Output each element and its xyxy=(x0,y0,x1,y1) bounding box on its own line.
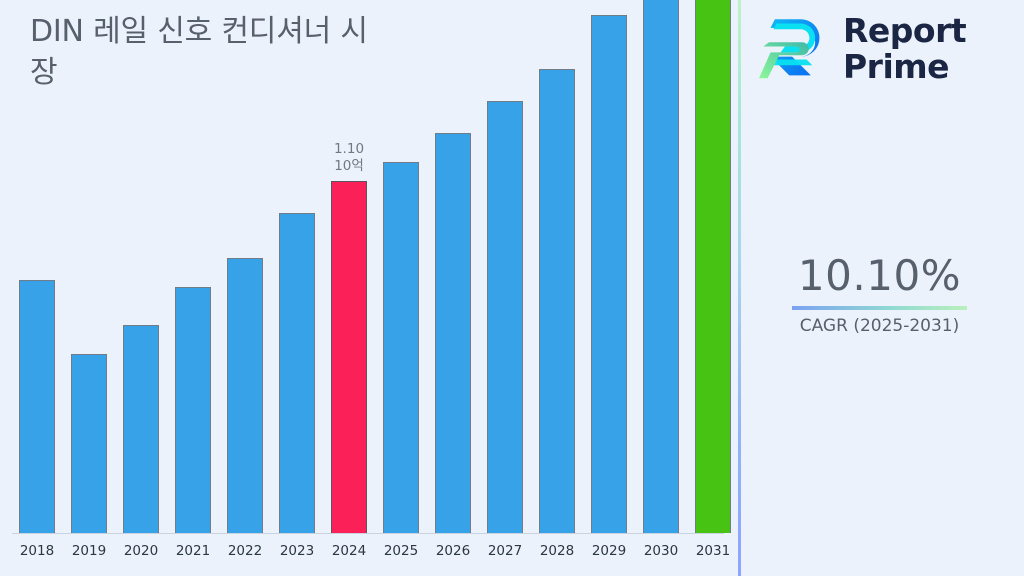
bar-2028[interactable] xyxy=(539,69,575,533)
bar-2021[interactable] xyxy=(175,287,211,533)
cagr-caption: CAGR (2025-2031) xyxy=(738,314,1021,338)
cagr-divider-rule xyxy=(792,306,967,310)
chart-panel: DIN 레일 신호 컨디셔너 시 장 201820192020202120222… xyxy=(0,0,738,576)
bar-2023[interactable] xyxy=(279,213,315,533)
x-tick-2020: 2020 xyxy=(111,543,171,559)
info-panel: Report Prime 10.10% CAGR (2025-2031) xyxy=(738,0,1021,576)
bar-2031[interactable] xyxy=(695,0,731,533)
bar-2024[interactable] xyxy=(331,181,367,533)
x-tick-2021: 2021 xyxy=(163,543,223,559)
bar-2019[interactable] xyxy=(71,354,107,533)
x-tick-2031: 2031 xyxy=(683,543,743,559)
bar-2018[interactable] xyxy=(19,280,55,533)
x-tick-2026: 2026 xyxy=(423,543,483,559)
x-tick-2025: 2025 xyxy=(371,543,431,559)
x-tick-2029: 2029 xyxy=(579,543,639,559)
bar-2020[interactable] xyxy=(123,325,159,533)
bar-2026[interactable] xyxy=(435,133,471,533)
logo-wordmark: Report Prime xyxy=(843,14,966,83)
bar-2030[interactable] xyxy=(643,0,679,533)
logo-wordmark-line2: Prime xyxy=(843,50,966,83)
x-tick-2030: 2030 xyxy=(631,543,691,559)
slide-root: DIN 레일 신호 컨디셔너 시 장 201820192020202120222… xyxy=(0,0,1024,576)
x-tick-2018: 2018 xyxy=(7,543,67,559)
bar-2029[interactable] xyxy=(591,15,627,533)
x-tick-2028: 2028 xyxy=(527,543,587,559)
x-tick-2019: 2019 xyxy=(59,543,119,559)
x-tick-2023: 2023 xyxy=(267,543,327,559)
cagr-value: 10.10% xyxy=(738,252,1021,300)
bar-chart-plot-area: 2018201920202021202220231.10 10억20242025… xyxy=(0,0,738,576)
bar-2027[interactable] xyxy=(487,101,523,533)
x-axis-line xyxy=(12,533,724,534)
report-prime-logo-mark xyxy=(759,12,831,84)
logo-wordmark-line1: Report xyxy=(843,11,966,50)
x-tick-2022: 2022 xyxy=(215,543,275,559)
bar-2025[interactable] xyxy=(383,162,419,533)
x-tick-2024: 2024 xyxy=(319,543,379,559)
bar-2022[interactable] xyxy=(227,258,263,533)
bar-value-label-2024: 1.10 10억 xyxy=(304,141,394,175)
report-prime-logo: Report Prime xyxy=(759,12,966,84)
x-tick-2027: 2027 xyxy=(475,543,535,559)
cagr-block: 10.10% CAGR (2025-2031) xyxy=(738,252,1021,338)
